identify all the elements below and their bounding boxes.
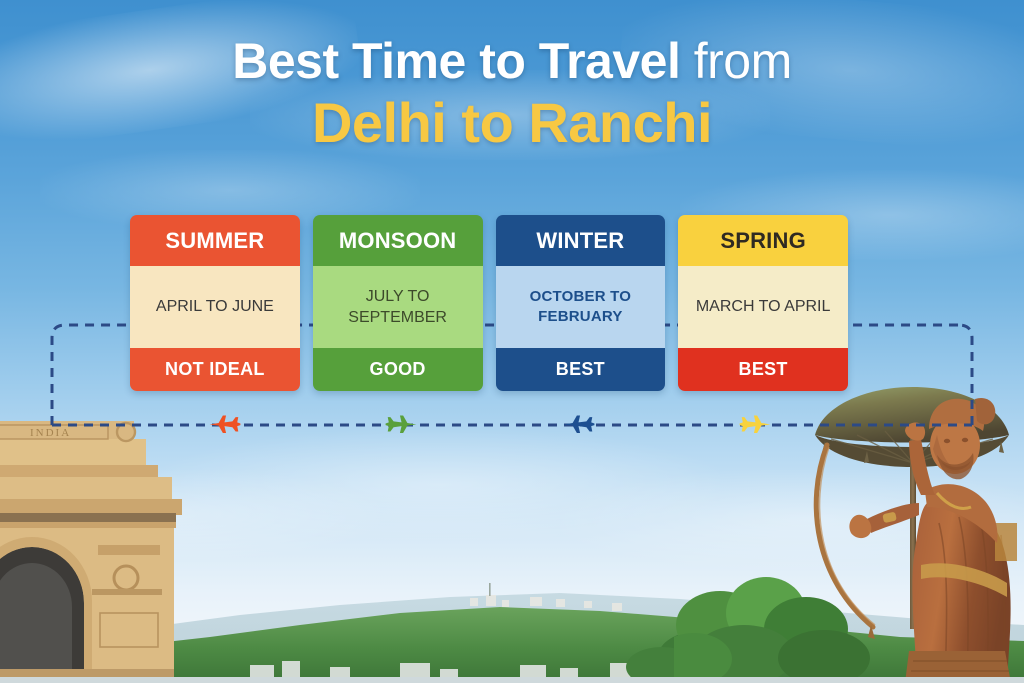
- hills-skyline: [0, 553, 1024, 683]
- season-card-summer-header: SUMMER: [130, 215, 300, 266]
- hand-on-bow: [849, 515, 871, 538]
- season-card-list: SUMMER APRIL TO JUNE NOT IDEAL MONSOON J…: [130, 215, 848, 391]
- bow: [816, 445, 873, 627]
- cloud-wisp: [0, 470, 380, 560]
- season-card-summer[interactable]: SUMMER APRIL TO JUNE NOT IDEAL: [130, 215, 300, 391]
- statue-head: [930, 416, 980, 474]
- season-card-spring[interactable]: SPRING MARCH TO APRIL BEST: [678, 215, 848, 391]
- season-card-summer-rating: NOT IDEAL: [130, 348, 300, 391]
- title-line-primary: Best Time to Travel from: [0, 36, 1024, 87]
- plane-orange-icon: [208, 407, 242, 441]
- season-card-winter-rating: BEST: [496, 348, 666, 391]
- statue-body: [912, 501, 1010, 683]
- season-card-winter[interactable]: WINTER OCTOBER TO FEBRUARY BEST: [496, 215, 666, 391]
- plane-blue-icon: [562, 407, 596, 441]
- season-card-summer-months: APRIL TO JUNE: [130, 266, 300, 348]
- cloud-wisp: [560, 470, 1024, 570]
- tree-cluster: [674, 563, 874, 683]
- svg-text:INDIA: INDIA: [30, 427, 71, 439]
- parasol: [815, 387, 1009, 629]
- page-title: Best Time to Travel from Delhi to Ranchi: [0, 36, 1024, 151]
- bottom-edge-strip: [0, 677, 1024, 683]
- title-line-route: Delhi to Ranchi: [0, 94, 1024, 151]
- india-gate-landmark: INDIA: [0, 403, 216, 683]
- season-card-spring-months: MARCH TO APRIL: [678, 266, 848, 348]
- plane-green-icon: [384, 407, 418, 441]
- season-card-winter-header: WINTER: [496, 215, 666, 266]
- title-bold-part: Best Time to Travel: [232, 33, 680, 89]
- title-thin-part: from: [694, 33, 792, 89]
- season-card-monsoon-months: JULY TO SEPTEMBER: [313, 266, 483, 348]
- season-card-monsoon[interactable]: MONSOON JULY TO SEPTEMBER GOOD: [313, 215, 483, 391]
- hand-on-pole: [905, 422, 925, 440]
- turban: [929, 399, 984, 431]
- season-card-spring-rating: BEST: [678, 348, 848, 391]
- season-card-monsoon-rating: GOOD: [313, 348, 483, 391]
- birsa-munda-statue-landmark: [809, 383, 1024, 683]
- season-card-monsoon-header: MONSOON: [313, 215, 483, 266]
- poster-canvas: INDIA: [0, 0, 1024, 683]
- season-card-spring-header: SPRING: [678, 215, 848, 266]
- season-card-winter-months: OCTOBER TO FEBRUARY: [496, 266, 666, 348]
- plane-yellow-icon: [738, 407, 772, 441]
- cloud-wisp: [160, 430, 720, 540]
